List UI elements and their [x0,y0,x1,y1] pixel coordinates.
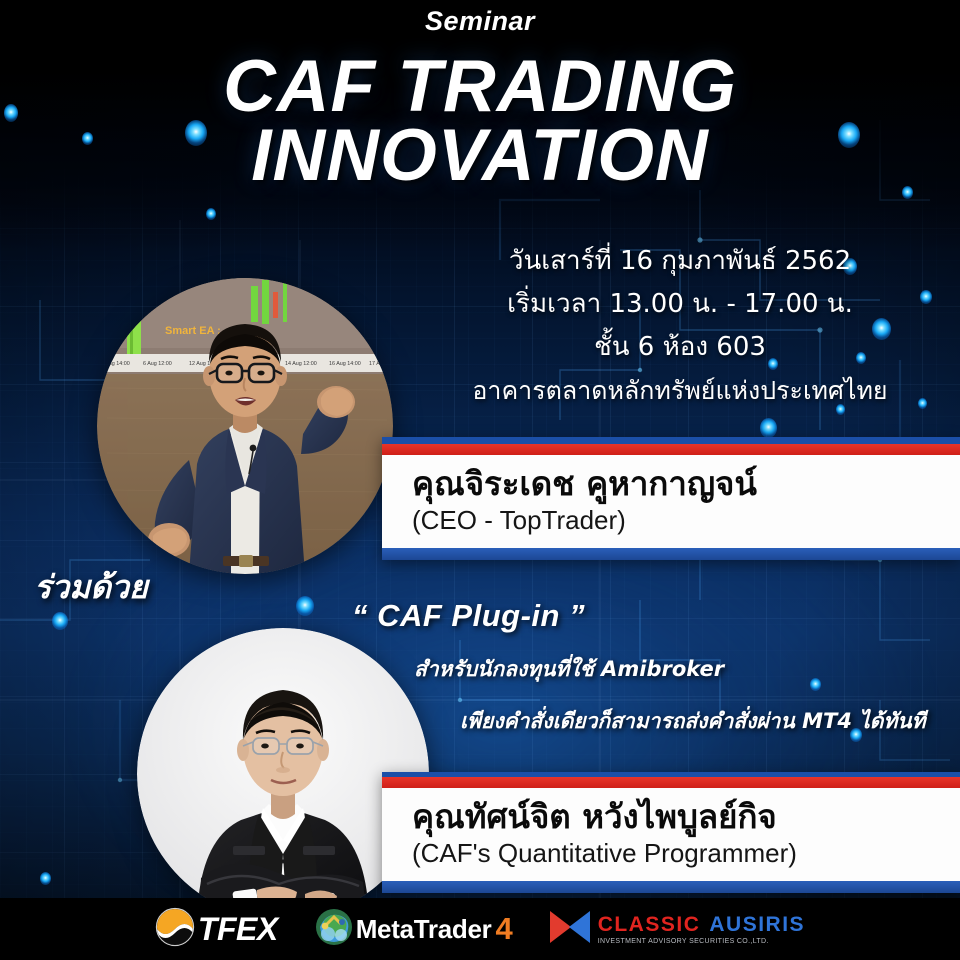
plugin-description: “ CAF Plug-in ” สำหรับนักลงทุนที่ใช้ Ami… [352,598,952,738]
event-date: วันเสาร์ที่ 16 กุมภาพันธ์ 2562 [410,240,950,283]
logo-tfex: TFEX [155,907,278,952]
logo-classic-ausiris: CLASSIC AUSIRIS INVESTMENT ADVISORY SECU… [547,907,805,952]
poster-title-line-1: CAF TRADING [0,50,960,123]
tfex-label: TFEX [198,911,278,948]
logo-metatrader: MetaTrader 4 [312,905,513,954]
event-time: เริ่มเวลา 13.00 น. - 17.00 น. [410,283,950,326]
band-red-stripe [382,777,960,788]
speaker-one-photo: Smart EA : 5 Aug 14:00 6 Aug 12:00 12 Au… [97,278,393,574]
event-room: ชั้น 6 ห้อง 603 [410,326,950,369]
glow-dot [206,208,216,220]
tfex-circle-wave-icon [155,907,195,952]
sponsor-logo-bar: TFEX MetaTrader 4 [0,898,960,960]
seminar-poster: Seminar CAF TRADING INNOVATION วันเสาร์ท… [0,0,960,960]
speaker-two-name: คุณทัศน์จิต หวังไพบูลย์กิจ [412,797,960,837]
ausiris-tagline: INVESTMENT ADVISORY SECURITIES CO.,LTD. [598,938,805,945]
glow-dot [760,418,777,438]
plugin-line-2: เพียงคำสั่งเดียวก็สามารถส่งคำสั่งผ่าน MT… [352,705,952,738]
glow-dot [52,612,68,630]
join-with-label: ร่วมด้วย [34,562,148,613]
speaker-one-name: คุณจิระเดช คูหากาญจน์ [412,464,960,504]
speaker-two-title: (CAF's Quantitative Programmer) [412,837,960,871]
svg-text:14 Aug 12:00: 14 Aug 12:00 [285,361,317,367]
seminar-label: Seminar [0,6,960,37]
speaker-one-title: (CEO - TopTrader) [412,504,960,538]
svg-text:Smart EA :: Smart EA : [165,325,221,337]
speaker-two-name-band: คุณทัศน์จิต หวังไพบูลย์กิจ (CAF's Quanti… [382,772,960,893]
band-blue-stripe-top [382,437,960,444]
plugin-line-1: สำหรับนักลงทุนที่ใช้ Amibroker [352,653,952,686]
event-venue: อาคารตลาดหลักทรัพย์แห่งประเทศไทย [410,369,950,412]
band-red-stripe [382,444,960,455]
event-details: วันเสาร์ที่ 16 กุมภาพันธ์ 2562 เริ่มเวลา… [410,240,950,412]
band-blue-stripe-bottom [382,548,960,560]
metatrader-version: 4 [495,911,512,947]
speaker-one-name-band: คุณจิระเดช คูหากาญจน์ (CEO - TopTrader) [382,437,960,560]
ausiris-classic-label: CLASSIC [598,914,701,935]
ausiris-ausiris-label: AUSIRIS [709,914,805,935]
svg-text:16 Aug 14:00: 16 Aug 14:00 [329,361,361,367]
glow-dot [296,596,314,616]
svg-text:6 Aug 12:00: 6 Aug 12:00 [143,361,172,367]
plugin-title: “ CAF Plug-in ” [352,598,952,634]
poster-title-line-2: INNOVATION [0,119,960,192]
ausiris-bowtie-icon [547,907,593,952]
metatrader-label: MetaTrader [356,914,492,945]
band-blue-stripe-bottom [382,881,960,893]
glow-dot [40,872,51,885]
metatrader-globe-icon [312,905,356,954]
